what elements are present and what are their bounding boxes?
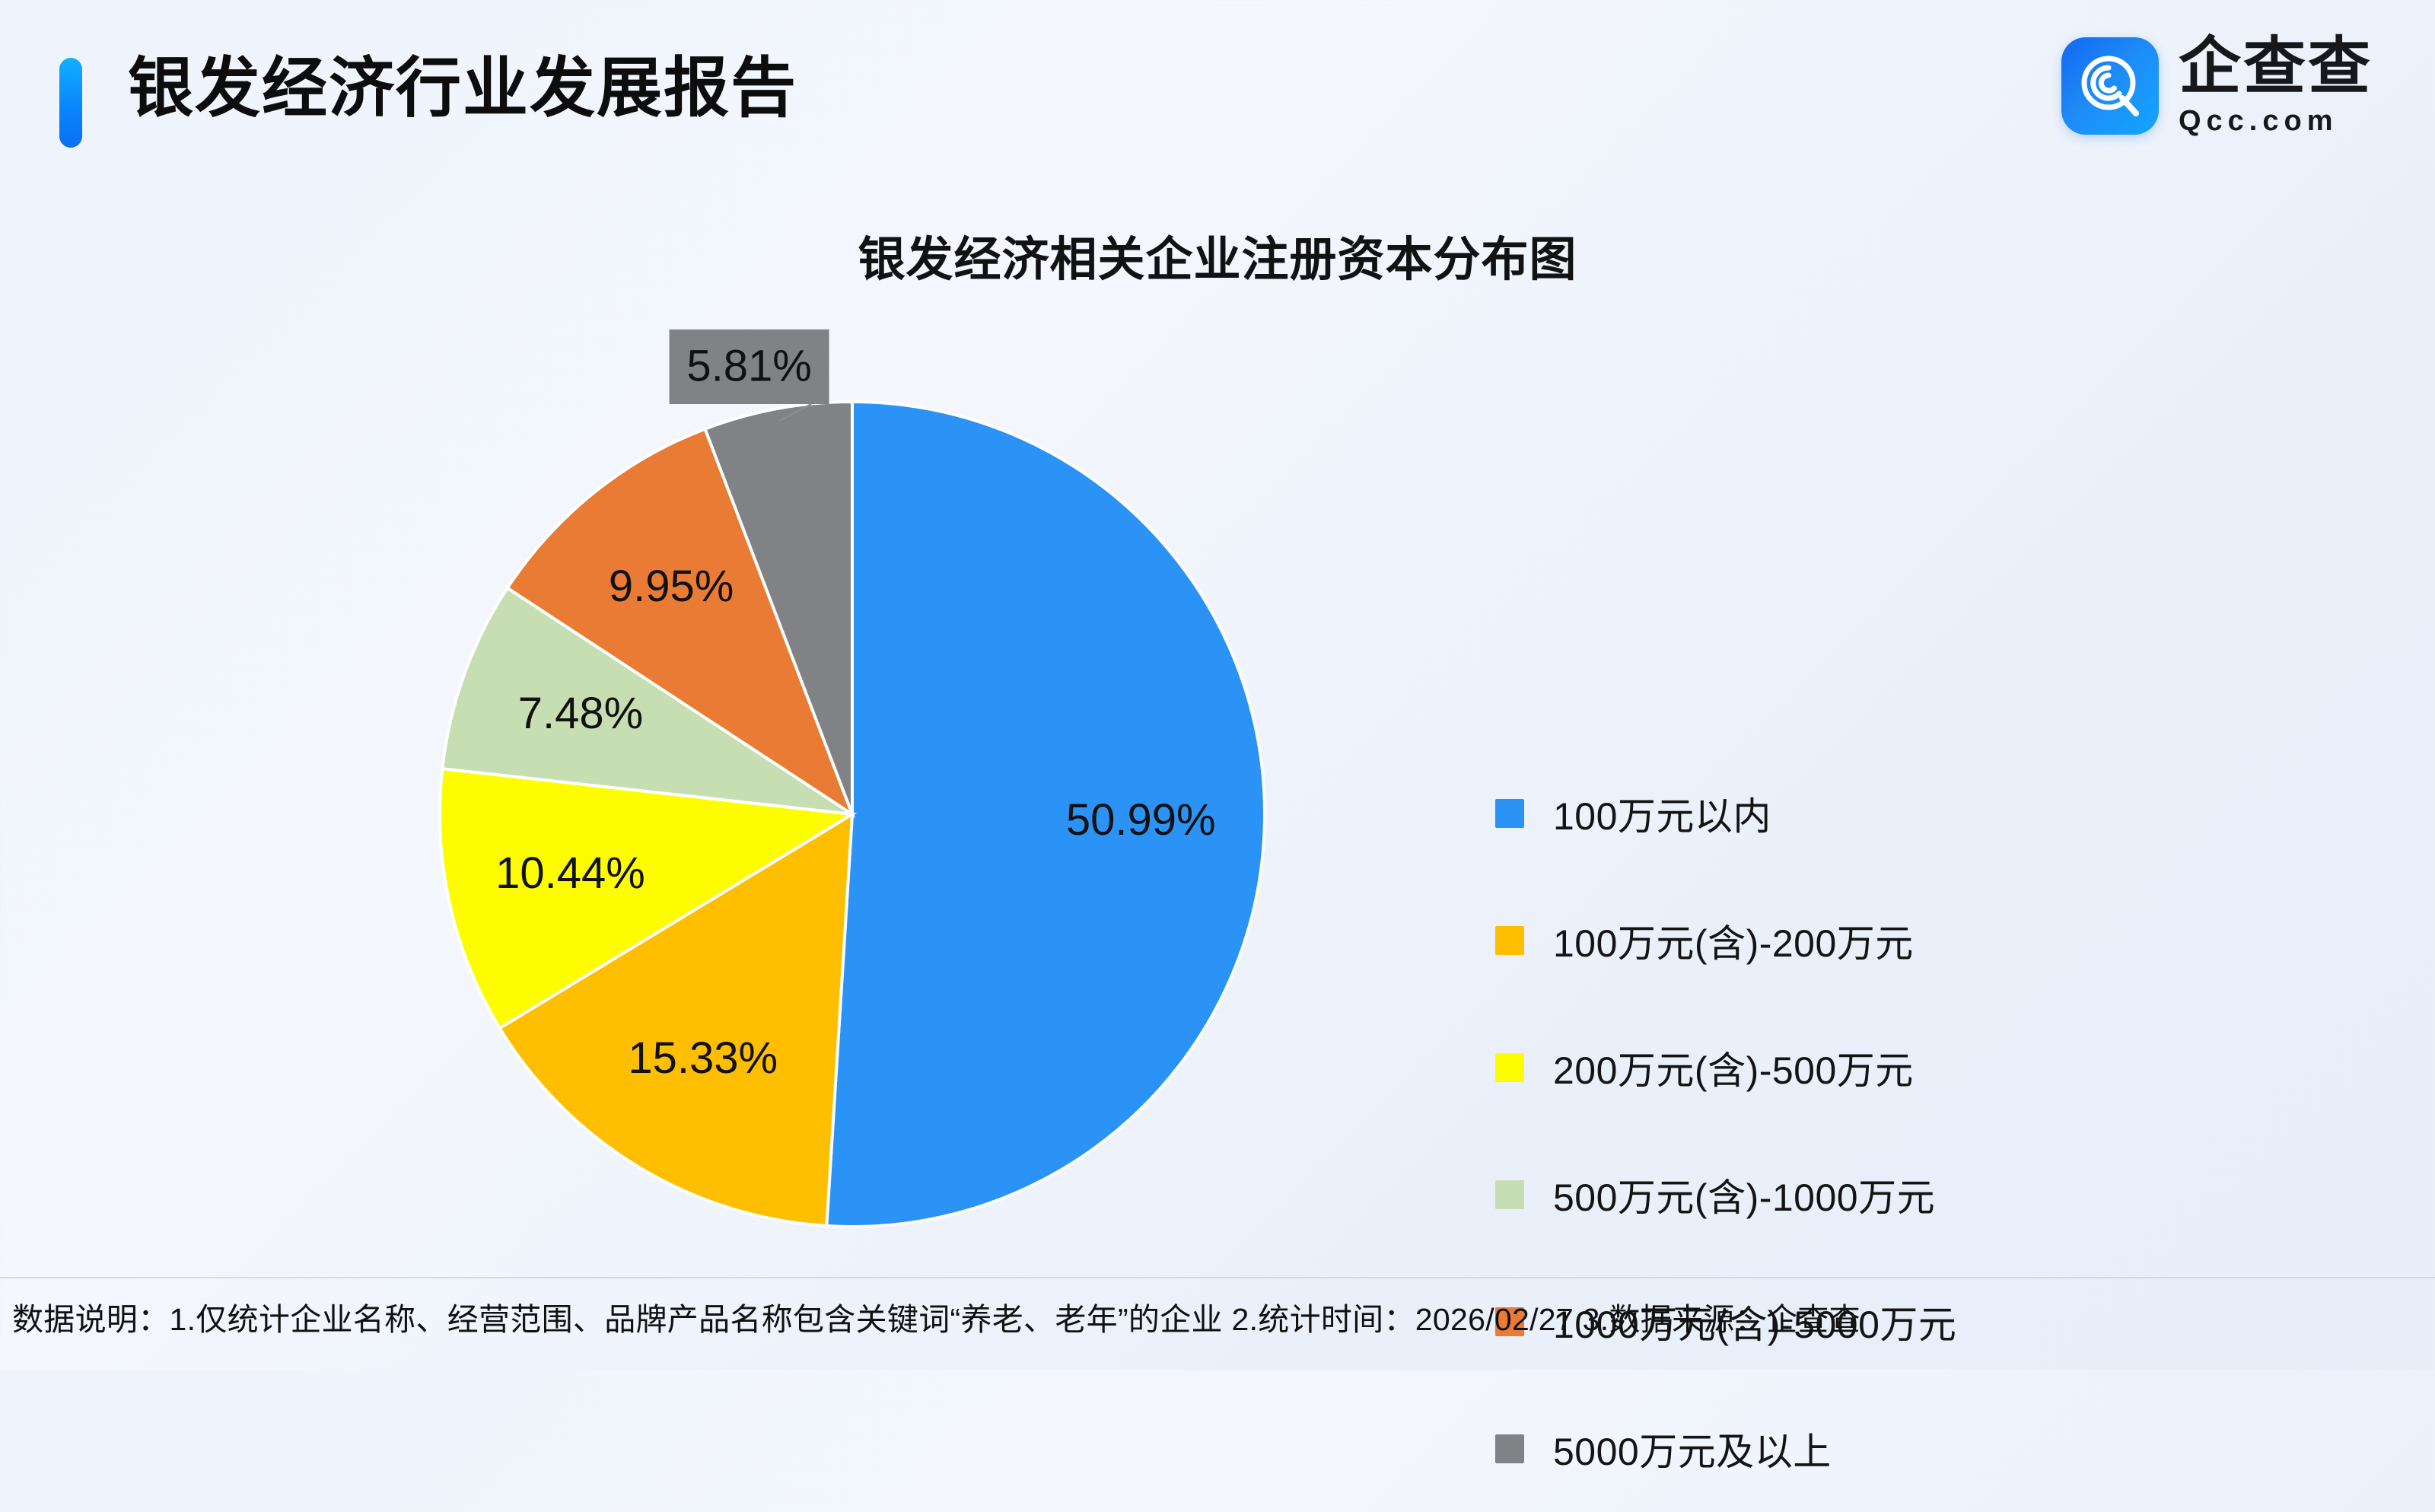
chart-legend: 100万元以内100万元(含)-200万元200万元(含)-500万元500万元… [1495,750,2256,1512]
legend-item-label: 200万元(含)-500万元 [1553,1040,1914,1095]
legend-item[interactable]: 100万元以内 [1495,750,2256,877]
legend-item[interactable]: 200万元(含)-500万元 [1495,1004,2256,1131]
footer-note: 数据说明：1.仅统计企业名称、经营范围、品牌产品名称包含关键词“养老、老年”的企… [12,1294,2432,1339]
brand-text: 企查查 Qcc.com [2179,35,2373,138]
page-header: 银发经济行业发展报告 企查查 Qcc.com [0,0,2435,175]
pie-slice-label: 7.48% [518,689,643,738]
brand-name-cn: 企查查 [2179,35,2373,99]
page-title: 银发经济行业发展报告 [128,44,797,132]
footer-divider [0,1277,2435,1278]
legend-item[interactable]: 5000万元及以上 [1495,1385,2256,1512]
legend-swatch [1495,926,1524,955]
pie-chart: 5.81% 50.99%15.33%10.44%7.48%9.95% [396,373,1309,1256]
legend-swatch [1495,1180,1524,1209]
legend-item-label: 5000万元及以上 [1553,1421,1832,1476]
legend-item[interactable]: 100万元(含)-200万元 [1495,877,2256,1004]
legend-item-label: 100万元以内 [1553,786,1771,841]
legend-swatch [1495,1434,1524,1463]
legend-item[interactable]: 500万元(含)-1000万元 [1495,1131,2256,1258]
brand-name-en: Qcc.com [2179,105,2373,138]
pie-callouts: 5.81% [670,329,829,421]
pie-slice-label: 50.99% [1066,795,1216,845]
pie-chart-svg: 5.81% 50.99%15.33%10.44%7.48%9.95% [396,373,1309,1256]
legend-swatch [1495,799,1524,828]
title-accent-bar [59,58,82,148]
pie-slice-label: 15.33% [628,1033,778,1083]
legend-item-label: 100万元(含)-200万元 [1553,913,1914,968]
legend-item-label: 500万元(含)-1000万元 [1553,1167,1935,1222]
pie-slice-label: 9.95% [609,562,734,611]
pie-slice-label: 10.44% [495,848,645,898]
pie-slice-label: 5.81% [686,341,811,390]
chart-area: 5.81% 50.99%15.33%10.44%7.48%9.95% 100万元… [0,304,2435,1240]
qcc-logo-icon [2061,37,2159,135]
legend-swatch [1495,1053,1524,1082]
chart-title: 银发经济相关企业注册资本分布图 [0,221,2435,289]
brand-logo[interactable]: 企查查 Qcc.com [2061,35,2373,138]
